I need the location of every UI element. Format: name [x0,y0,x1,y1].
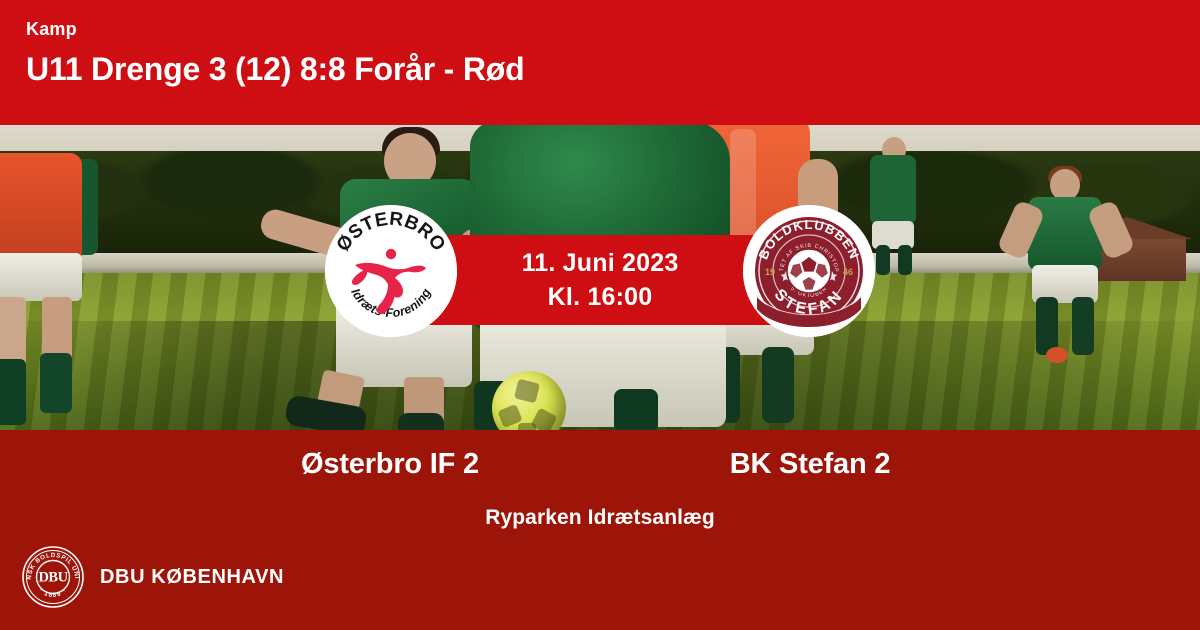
match-date: 11. Juni 2023 [522,246,679,280]
header-kicker: Kamp [26,18,1200,40]
team-names-row: Østerbro IF 2 BK Stefan 2 [0,448,1200,481]
svg-text:· 1889 ·: · 1889 · [37,587,68,599]
photo-player-orange-left [0,153,115,429]
svg-text:19: 19 [765,267,775,277]
svg-text:46: 46 [843,267,853,277]
bk-stefan-crest-icon: BOLDKLUBBEN STIFTET AF SKIB CHRISTOPHER … [743,205,875,337]
footer-label: DBU KØBENHAVN [100,566,284,589]
footer-branding: DANSK BOLDSPIL UNION · 1889 · DBU DBU KØ… [22,546,284,608]
photo-player-standing-right [1010,169,1130,369]
home-team-logo[interactable]: ØSTERBRO Idræts-Forening [325,205,457,337]
osterbro-if-crest-icon: ØSTERBRO Idræts-Forening [325,205,457,337]
away-team-logo[interactable]: BOLDKLUBBEN STIFTET AF SKIB CHRISTOPHER … [743,205,875,337]
venue-name: Ryparken Idrætsanlæg [0,506,1200,530]
match-datetime-band: 11. Juni 2023 Kl. 16:00 [404,235,796,325]
poster-header: Kamp U11 Drenge 3 (12) 8:8 Forår - Rød [0,0,1200,125]
home-team-name: Østerbro IF 2 [180,448,600,481]
dbu-logo-icon: DANSK BOLDSPIL UNION · 1889 · DBU [22,546,84,608]
svg-text:DBU: DBU [38,570,68,586]
away-team-name: BK Stefan 2 [600,448,1020,481]
match-time: Kl. 16:00 [548,280,653,314]
page-title: U11 Drenge 3 (12) 8:8 Forår - Rød [26,49,1200,89]
match-poster: Kamp U11 Drenge 3 (12) 8:8 Forår - Rød [0,0,1200,630]
